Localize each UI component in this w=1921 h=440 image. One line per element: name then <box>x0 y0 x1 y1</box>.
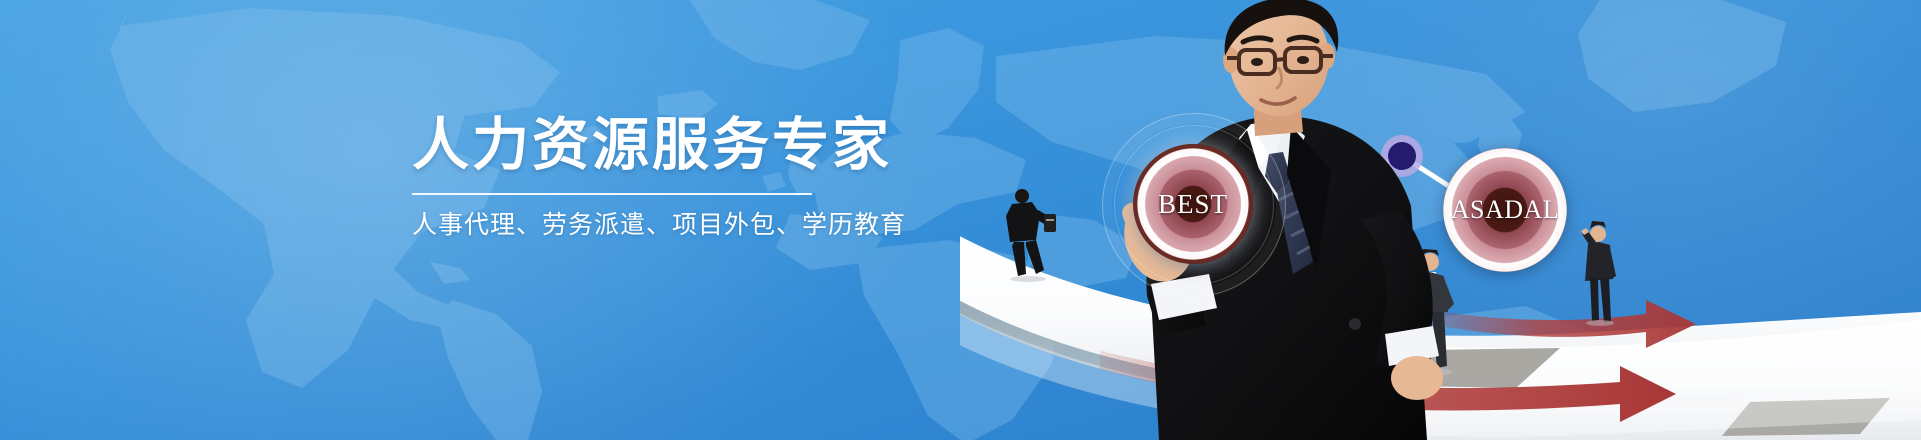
asadal-badge[interactable]: ASADAL <box>1443 148 1567 272</box>
best-badge-label: BEST <box>1158 189 1228 220</box>
left-hand <box>1391 356 1443 400</box>
best-badge[interactable]: BEST <box>1133 144 1253 264</box>
banner-headline: 人力资源服务专家 <box>412 112 812 178</box>
headline-divider <box>412 193 812 195</box>
jacket-button <box>1349 318 1361 330</box>
mini-businessman-looking-ahead <box>1576 216 1622 326</box>
hero-banner: BEST ASADAL 人力资源服务专家 人事代理、劳务派遣、项目外包、学历教育 <box>0 0 1921 440</box>
banner-subline: 人事代理、劳务派遣、项目外包、学历教育 <box>412 208 812 242</box>
mini-businessman-with-briefcase <box>1000 186 1060 282</box>
hero-businessman-figure <box>1055 0 1485 440</box>
asadal-badge-label: ASADAL <box>1451 195 1559 225</box>
banner-copy-block: 人力资源服务专家 人事代理、劳务派遣、项目外包、学历教育 <box>412 112 812 242</box>
